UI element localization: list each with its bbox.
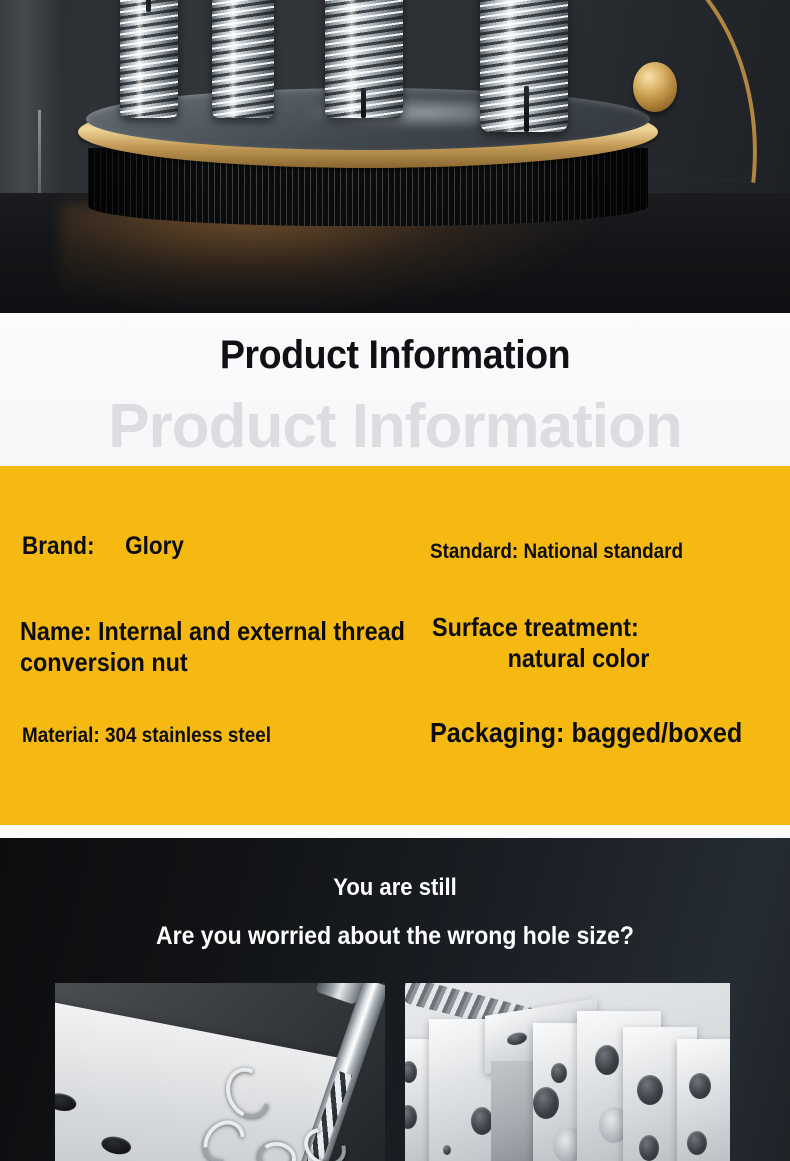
hero-product-photo [0, 0, 790, 313]
block-hole [405, 1105, 417, 1129]
drill-scene-background [55, 983, 385, 1161]
nut-slot [361, 88, 366, 118]
plate-hole [55, 1091, 78, 1113]
nut-highlight [503, 0, 517, 132]
block-hole [443, 1145, 451, 1155]
block-hole [507, 1031, 527, 1046]
plate-hole [100, 1134, 133, 1156]
pain-point-photo-row [0, 983, 790, 1161]
block-hole [551, 1063, 567, 1083]
product-detail-page: Product Information Product Information … [0, 0, 790, 1161]
spec-name: Name: Internal and external thread conve… [20, 616, 407, 677]
page-title-ghost: Product Information [0, 391, 790, 462]
nut-highlight [345, 0, 357, 118]
metal-plate [55, 995, 342, 1161]
block-hole [405, 1061, 417, 1083]
nut-threads [212, 0, 274, 118]
block-hole [637, 1075, 663, 1105]
drill-plate-photo [55, 983, 385, 1161]
pain-point-headline-2: Are you worried about the wrong hole siz… [32, 922, 759, 951]
spec-brand-label: Brand: [22, 532, 95, 560]
block-hole [595, 1045, 619, 1075]
product-nut-1 [120, 0, 178, 118]
block-side-face [491, 1061, 537, 1161]
blocks-scene-background [405, 983, 730, 1161]
spec-surface-label: Surface treatment: [432, 612, 639, 642]
spec-brand: Brand:Glory [22, 532, 184, 562]
spec-surface-treatment: Surface treatment: natural color [432, 612, 747, 673]
page-title: Product Information [24, 333, 767, 378]
pain-point-headline-1: You are still [32, 874, 759, 902]
block-hole [471, 1107, 493, 1135]
block-hole [687, 1131, 707, 1155]
block-hole [533, 1087, 559, 1119]
section-divider [0, 825, 790, 838]
nut-slot [524, 86, 529, 132]
spec-packaging: Packaging: bagged/boxed [430, 716, 742, 749]
spec-surface-value: natural color [432, 643, 747, 674]
specification-panel: Brand:Glory Standard: National standard … [0, 466, 790, 825]
product-nut-3 [325, 0, 403, 118]
section-title-band: Product Information Product Information [0, 313, 790, 466]
nut-highlight [228, 0, 238, 118]
spec-standard: Standard: National standard [430, 540, 683, 565]
nut-threads [120, 0, 178, 118]
product-nut-4 [480, 0, 568, 132]
block-hole [689, 1073, 711, 1099]
machined-blocks-photo [405, 983, 730, 1161]
pain-point-section: You are still Are you worried about the … [0, 838, 790, 1161]
product-nut-2 [212, 0, 274, 118]
spec-brand-value: Glory [125, 532, 184, 560]
machined-block [677, 1039, 730, 1161]
block-hole [639, 1135, 659, 1161]
spec-material: Material: 304 stainless steel [22, 724, 271, 749]
brass-sphere-decoration [633, 62, 677, 112]
nut-highlight [135, 0, 144, 118]
nut-slot [146, 0, 151, 12]
